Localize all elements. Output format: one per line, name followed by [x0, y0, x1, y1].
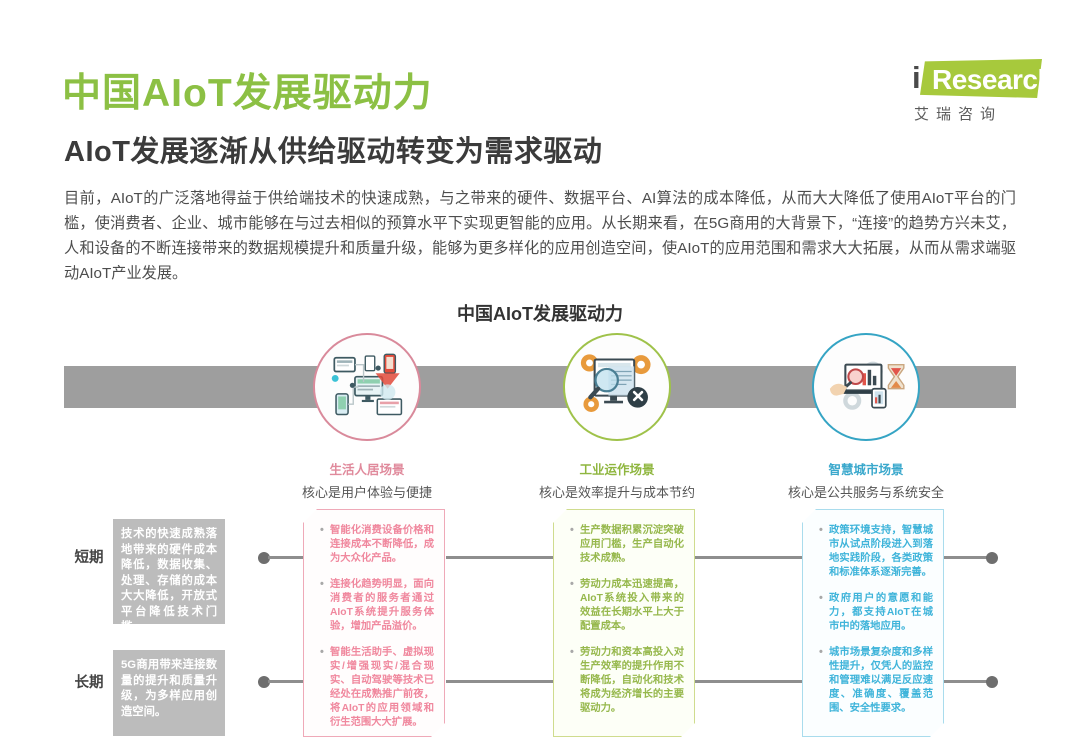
connector-dot-right-long [986, 676, 998, 688]
list-item: 政策环境支持，智慧城市从试点阶段进入到落地实践阶段，各类政策和标准体系逐渐完善。 [819, 524, 933, 580]
connector-line-right-long [944, 680, 988, 683]
period-label-long: 长期 [66, 671, 112, 692]
connector-line-pink-green-short [446, 556, 554, 559]
scenario-desc: 核心是用户体验与便捷 [247, 482, 487, 501]
smart-home-devices-icon [324, 344, 410, 430]
page-subtitle: AIoT发展逐渐从供给驱动转变为需求驱动 [64, 128, 602, 170]
scenario-desc: 核心是公共服务与系统安全 [746, 482, 986, 501]
scenario-circle-industry [563, 333, 671, 441]
connector-dot-right-short [986, 552, 998, 564]
scenario-circle-home [313, 333, 421, 441]
connector-line-left-short [268, 556, 305, 559]
connector-line-right-short [944, 556, 988, 559]
list-item: 智能化消费设备价格和连接成本不断降低，成为大众化产品。 [320, 524, 434, 566]
list-item: 连接化趋势明显，面向消费者的服务者通过AIoT系统提升服务体验，增加产品溢价。 [320, 578, 434, 634]
connector-line-green-blue-short [695, 556, 803, 559]
connector-line-pink-green-long [446, 680, 554, 683]
iresearch-logo: i Research 艾瑞咨询 [884, 58, 1042, 126]
driver-list: 智能化消费设备价格和连接成本不断降低，成为大众化产品。 连接化趋势明显，面向消费… [320, 524, 434, 730]
scenario-label-industry: 工业运作场景 核心是效率提升与成本节约 [497, 459, 737, 501]
list-item: 生产数据积累沉淀突破应用门槛，生产自动化技术成熟。 [570, 524, 684, 566]
scenario-label-home: 生活人居场景 核心是用户体验与便捷 [247, 459, 487, 501]
industrial-monitor-gear-icon [574, 344, 660, 430]
list-item: 智能生活助手、虚拟现实/增强现实/混合现实、自动驾驶等技术已经处在成熟推广前夜，… [320, 646, 434, 730]
scenario-name: 生活人居场景 [247, 459, 487, 478]
supply-driver-box-short: 技术的快速成熟落地带来的硬件成本降低，数据收集、处理、存储的成本大大降低，开放式… [113, 519, 225, 624]
logo-letter-i: i [912, 62, 921, 93]
page-title: 中国AIoT发展驱动力 [62, 62, 433, 118]
driver-list: 政策环境支持，智慧城市从试点阶段进入到落地实践阶段，各类政策和标准体系逐渐完善。… [819, 524, 933, 716]
driver-list: 生产数据积累沉淀突破应用门槛，生产自动化技术成熟。 劳动力成本迅速提高，AIoT… [570, 524, 684, 716]
connector-line-left-long [268, 680, 305, 683]
period-label-short: 短期 [66, 546, 112, 567]
list-item: 政府用户的意愿和能力，都支持AIoT在城市中的落地应用。 [819, 592, 933, 634]
logo-wordmark: Research [932, 64, 1054, 96]
list-item: 劳动力成本迅速提高，AIoT系统投入带来的效益在长期水平上大于配置成本。 [570, 578, 684, 634]
connector-line-green-blue-long [695, 680, 803, 683]
driver-panel-city: 政策环境支持，智慧城市从试点阶段进入到落地实践阶段，各类政策和标准体系逐渐完善。… [802, 509, 944, 737]
scenario-name: 工业运作场景 [497, 459, 737, 478]
list-item: 劳动力和资本高投入对生产效率的提升作用不断降低，自动化和技术将成为经济增长的主要… [570, 646, 684, 716]
supply-driver-box-long: 5G商用带来连接数量的提升和质量升级，为多样应用创造空间。 [113, 650, 225, 736]
scenario-circle-city [812, 333, 920, 441]
scenario-desc: 核心是效率提升与成本节约 [497, 482, 737, 501]
driver-panel-home: 智能化消费设备价格和连接成本不断降低，成为大众化产品。 连接化趋势明显，面向消费… [303, 509, 445, 737]
logo-chinese-name: 艾瑞咨询 [914, 103, 1042, 124]
city-analytics-hourglass-icon [823, 344, 909, 430]
scenario-name: 智慧城市场景 [746, 459, 986, 478]
scenario-label-city: 智慧城市场景 核心是公共服务与系统安全 [746, 459, 986, 501]
list-item: 城市场景复杂度和多样性提升，仅凭人的监控和管理难以满足反应速度、准确度、覆盖范围… [819, 646, 933, 716]
lead-paragraph: 目前，AIoT的广泛落地得益于供给端技术的快速成熟，与之带来的硬件、数据平台、A… [64, 186, 1016, 286]
slide-page: 中国AIoT发展驱动力 AIoT发展逐渐从供给驱动转变为需求驱动 i Resea… [0, 0, 1080, 747]
driver-panel-industry: 生产数据积累沉淀突破应用门槛，生产自动化技术成熟。 劳动力成本迅速提高，AIoT… [553, 509, 695, 737]
logo-mark: i Research [884, 58, 1042, 100]
chart-title: 中国AIoT发展驱动力 [0, 300, 1080, 326]
